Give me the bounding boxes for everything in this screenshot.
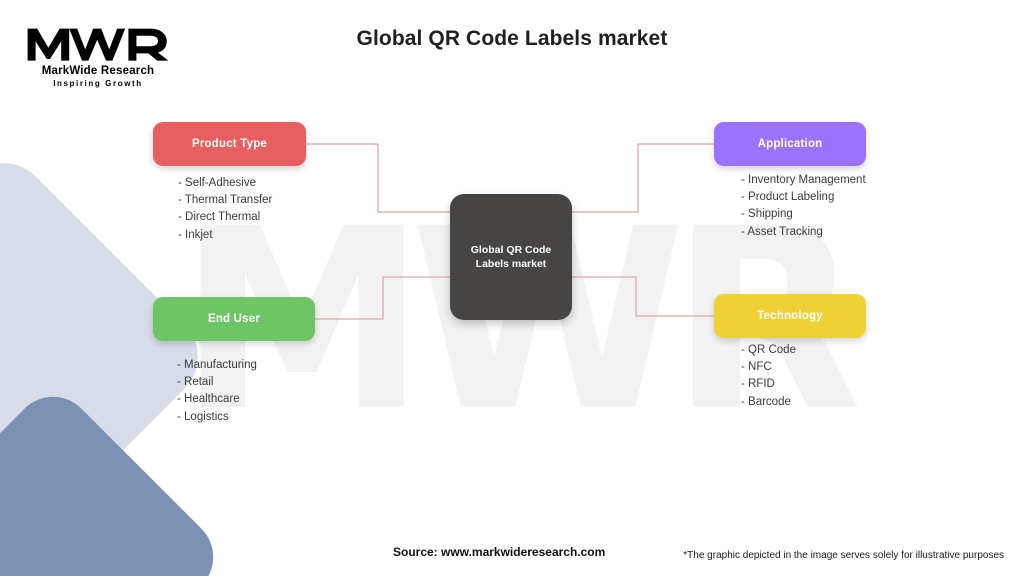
list-item: - Barcode — [741, 394, 796, 411]
branch-node-product-type[interactable]: Product Type — [153, 122, 306, 166]
list-item: - Direct Thermal — [178, 209, 272, 226]
connector-end-user — [315, 277, 452, 319]
list-item: - QR Code — [741, 342, 796, 359]
list-item: - Healthcare — [177, 391, 257, 408]
center-node-line2: Labels market — [471, 257, 552, 271]
list-item: - Thermal Transfer — [178, 192, 272, 209]
list-item: - Logistics — [177, 409, 257, 426]
brand-name: MarkWide Research — [18, 65, 178, 77]
list-item: - Asset Tracking — [741, 224, 866, 241]
connector-technology — [570, 277, 714, 316]
branch-items-technology: - QR Code - NFC - RFID - Barcode — [741, 342, 796, 411]
list-item: - Self-Adhesive — [178, 175, 272, 192]
list-item: - Shipping — [741, 206, 866, 223]
branch-items-application: - Inventory Management - Product Labelin… — [741, 172, 866, 241]
infographic-canvas: MWR MarkWide Research Inspiring Growth G… — [0, 0, 1024, 576]
connector-application — [570, 144, 714, 212]
list-item: - Inventory Management — [741, 172, 866, 189]
source-label: Source: www.markwideresearch.com — [393, 545, 605, 559]
list-item: - Retail — [177, 374, 257, 391]
list-item: - Manufacturing — [177, 357, 257, 374]
center-node[interactable]: Global QR Code Labels market — [450, 194, 572, 320]
list-item: - Inkjet — [178, 227, 272, 244]
branch-label-product-type: Product Type — [192, 138, 267, 150]
disclaimer-label: *The graphic depicted in the image serve… — [683, 550, 1004, 561]
branch-label-application: Application — [758, 138, 823, 150]
branch-label-end-user: End User — [208, 313, 260, 325]
connector-product-type — [306, 144, 452, 212]
list-item: - Product Labeling — [741, 189, 866, 206]
branch-items-product-type: - Self-Adhesive - Thermal Transfer - Dir… — [178, 175, 272, 244]
branch-label-technology: Technology — [757, 310, 823, 322]
brand-tagline: Inspiring Growth — [18, 79, 178, 88]
branch-items-end-user: - Manufacturing - Retail - Healthcare - … — [177, 357, 257, 426]
list-item: - NFC — [741, 359, 796, 376]
center-node-line1: Global QR Code — [471, 243, 552, 257]
page-title: Global QR Code Labels market — [0, 27, 1024, 51]
list-item: - RFID — [741, 376, 796, 393]
branch-node-technology[interactable]: Technology — [714, 294, 866, 338]
branch-node-application[interactable]: Application — [714, 122, 866, 166]
branch-node-end-user[interactable]: End User — [153, 297, 315, 341]
